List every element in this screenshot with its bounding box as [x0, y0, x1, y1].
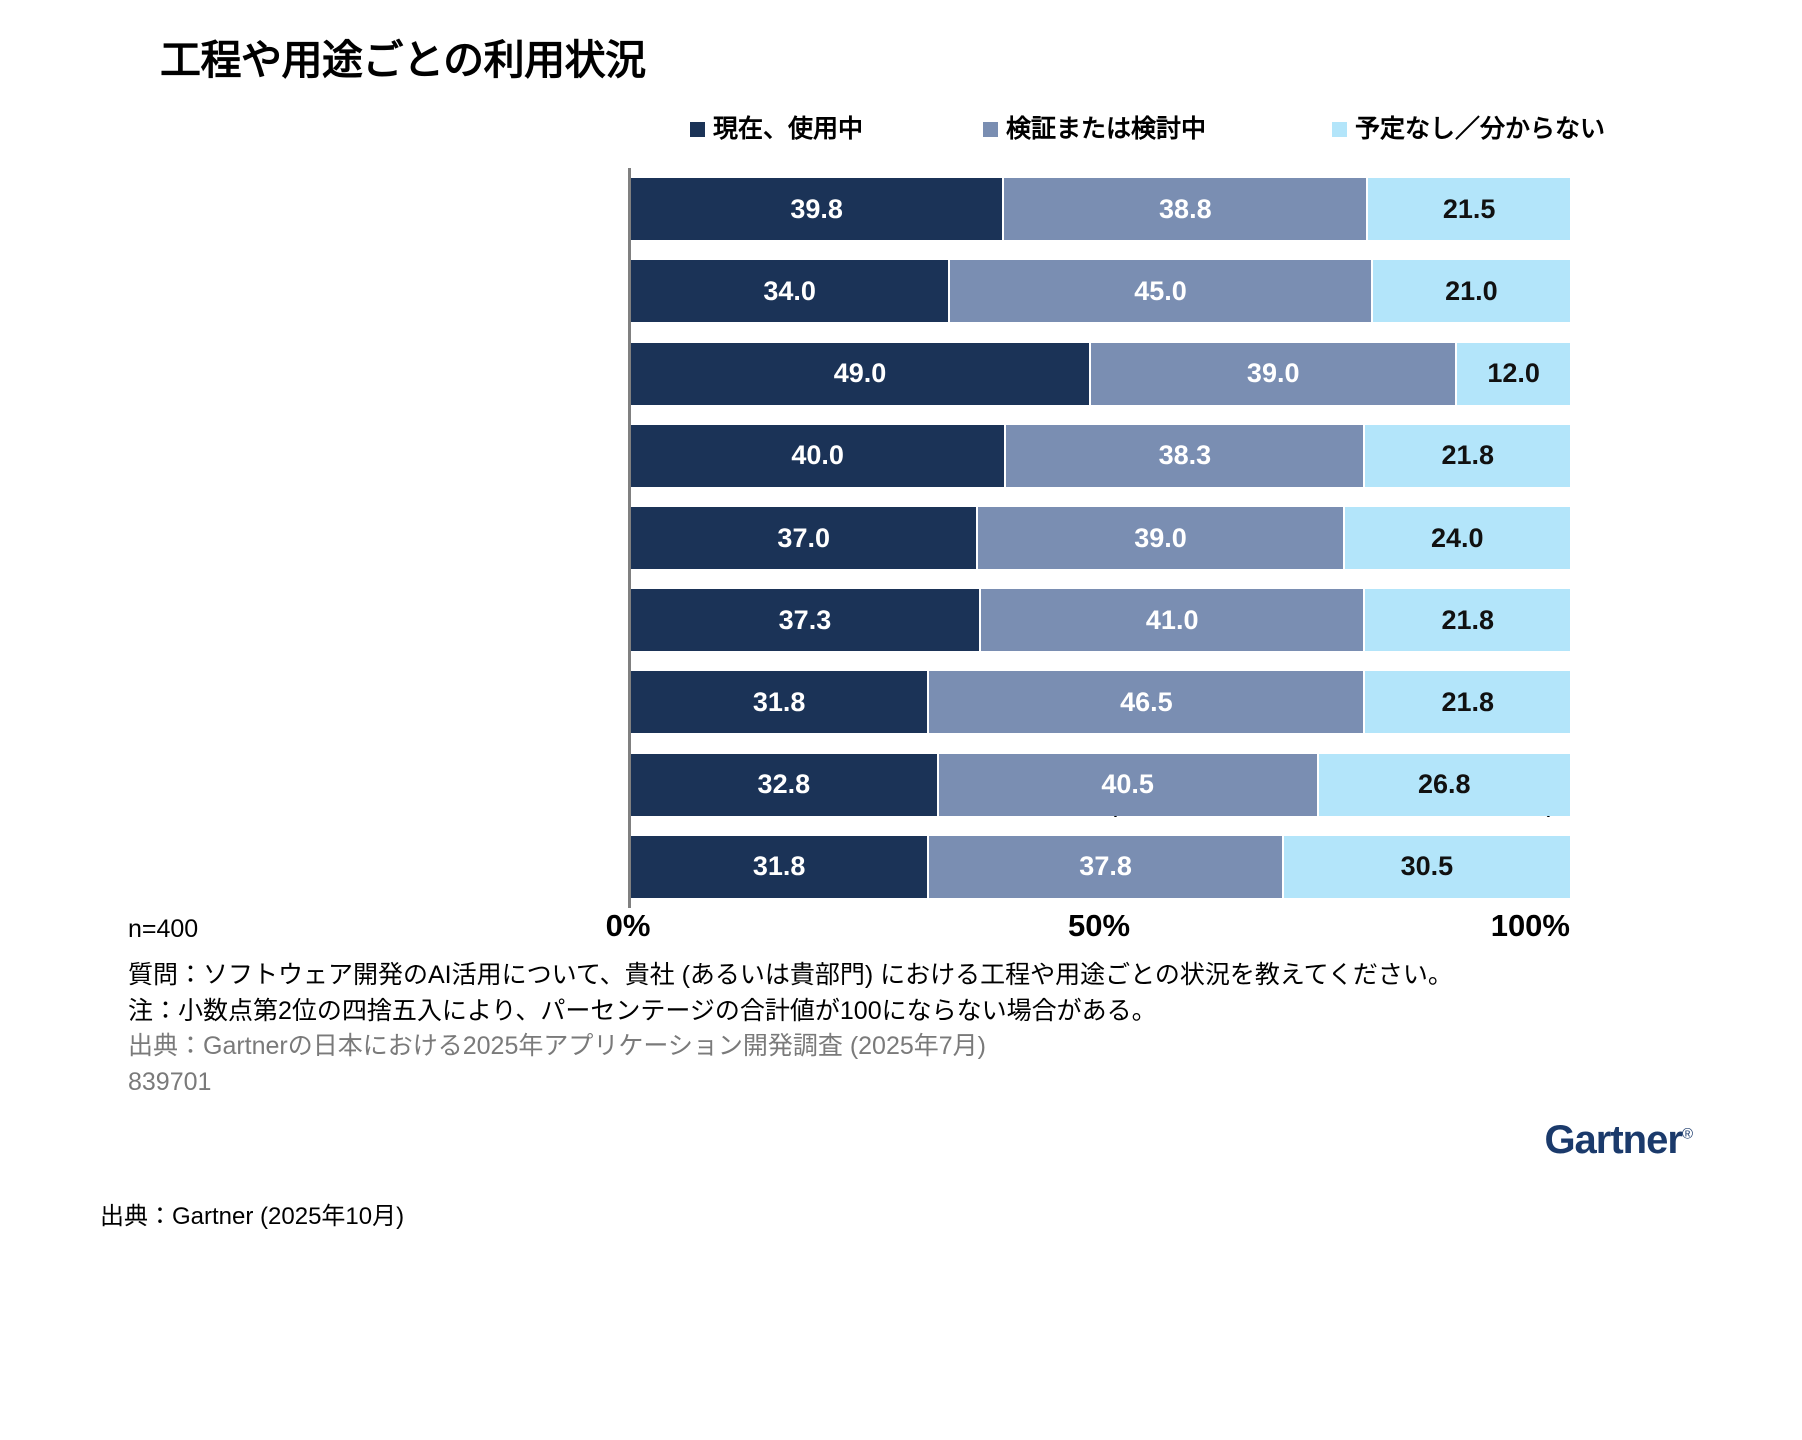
bar-segment-1[interactable]: 39.0 [978, 507, 1344, 569]
bar-value-label: 39.8 [790, 196, 843, 223]
bar-value-label: 21.5 [1443, 196, 1496, 223]
bar-value-label: 37.3 [779, 607, 832, 634]
stacked-bar: 32.840.526.8 [631, 754, 1570, 816]
bar-value-label: 21.0 [1445, 278, 1498, 305]
bar-value-label: 21.8 [1441, 607, 1494, 634]
chart-plot-area: 要件定義39.838.821.5設計34.045.021.0コード生成・補完49… [160, 168, 1570, 908]
footnote-3: 839701 [128, 1065, 1688, 1101]
bar-segment-0[interactable]: 37.3 [631, 589, 981, 651]
chart-title: 工程や用途ごとの利用状況 [160, 26, 646, 86]
bar-segment-2[interactable]: 21.5 [1368, 178, 1570, 240]
bar-segment-2[interactable]: 21.8 [1365, 671, 1569, 733]
bar-segment-0[interactable]: 31.8 [631, 836, 929, 898]
bar-value-label: 12.0 [1487, 360, 1540, 387]
chart-row: デバッグ37.039.024.0 [160, 507, 1570, 569]
bar-segment-0[interactable]: 37.0 [631, 507, 978, 569]
bar-value-label: 31.8 [753, 689, 806, 716]
bar-segment-2[interactable]: 21.8 [1365, 425, 1569, 487]
bar-segment-1[interactable]: 40.5 [939, 754, 1319, 816]
bar-segment-0[interactable]: 32.8 [631, 754, 939, 816]
stacked-bar: 49.039.012.0 [631, 343, 1570, 405]
bar-segment-1[interactable]: 38.3 [1006, 425, 1365, 487]
bar-segment-2[interactable]: 30.5 [1284, 836, 1570, 898]
legend-square-icon [1332, 122, 1347, 137]
bar-value-label: 46.5 [1120, 689, 1173, 716]
stacked-bar: 31.846.521.8 [631, 671, 1570, 733]
chart-legend: 現在、使用中検証または検討中予定なし／分からない [690, 112, 1480, 146]
bar-value-label: 38.8 [1159, 196, 1212, 223]
stacked-bar: 37.341.021.8 [631, 589, 1570, 651]
bar-value-label: 24.0 [1431, 525, 1484, 552]
bar-segment-2[interactable]: 26.8 [1319, 754, 1570, 816]
bar-value-label: 40.0 [791, 442, 844, 469]
chart-row: プロジェクト管理31.837.830.5 [160, 836, 1570, 898]
legend-item-1[interactable]: 検証または検討中 [983, 117, 1206, 142]
x-tick-2: 100% [1491, 908, 1570, 944]
bar-segment-2[interactable]: 12.0 [1457, 343, 1570, 405]
footnote-1: 注：小数点第2位の四捨五入により、パーセンテージの合計値が100にならない場合が… [128, 994, 1688, 1030]
chart-row: コード生成・補完49.039.012.0 [160, 343, 1570, 405]
bar-value-label: 30.5 [1401, 853, 1454, 880]
gartner-logo: Gartner® [1544, 1118, 1692, 1163]
bar-value-label: 32.8 [758, 771, 811, 798]
legend-square-icon [690, 122, 705, 137]
registered-mark-icon: ® [1682, 1126, 1692, 1143]
bar-segment-1[interactable]: 46.5 [929, 671, 1365, 733]
bar-value-label: 49.0 [834, 360, 887, 387]
stacked-bar: 37.039.024.0 [631, 507, 1570, 569]
bar-segment-0[interactable]: 31.8 [631, 671, 929, 733]
legend-item-2[interactable]: 予定なし／分からない [1332, 117, 1605, 142]
stacked-bar: 39.838.821.5 [631, 178, 1570, 240]
bar-value-label: 39.0 [1134, 525, 1187, 552]
chart-row: テストケースやテスト・データの生成37.341.021.8 [160, 589, 1570, 651]
chart-row: モダナイゼーション(レガシー・コードの分析や変換など)32.840.526.8 [160, 754, 1570, 816]
bar-value-label: 45.0 [1134, 278, 1187, 305]
chart-row: 設計34.045.021.0 [160, 260, 1570, 322]
bottom-source-note: 出典：Gartner (2025年10月) [100, 1196, 404, 1231]
bar-value-label: 37.8 [1079, 853, 1132, 880]
chart-row: テスト自動化31.846.521.8 [160, 671, 1570, 733]
bar-value-label: 21.8 [1441, 689, 1494, 716]
gartner-logo-text: Gartner [1544, 1118, 1682, 1162]
bar-segment-2[interactable]: 21.0 [1373, 260, 1570, 322]
bar-value-label: 26.8 [1418, 771, 1471, 798]
legend-label-1: 検証または検討中 [1006, 117, 1206, 142]
bar-value-label: 39.0 [1247, 360, 1300, 387]
bar-segment-1[interactable]: 39.0 [1091, 343, 1457, 405]
stacked-bar: 31.837.830.5 [631, 836, 1570, 898]
footnotes: 質問：ソフトウェア開発のAI活用について、貴社 (あるいは貴部門) における工程… [128, 958, 1688, 1100]
bar-segment-2[interactable]: 21.8 [1365, 589, 1569, 651]
sample-size-label: n=400 [128, 915, 198, 944]
bar-value-label: 31.8 [753, 853, 806, 880]
chart-row: 要件定義39.838.821.5 [160, 178, 1570, 240]
bar-segment-1[interactable]: 37.8 [929, 836, 1284, 898]
bar-value-label: 37.0 [777, 525, 830, 552]
bar-segment-2[interactable]: 24.0 [1345, 507, 1570, 569]
bar-value-label: 40.5 [1101, 771, 1154, 798]
bar-segment-0[interactable]: 34.0 [631, 260, 950, 322]
bar-segment-0[interactable]: 39.8 [631, 178, 1004, 240]
bar-segment-1[interactable]: 41.0 [981, 589, 1366, 651]
bar-value-label: 38.3 [1159, 442, 1212, 469]
stacked-bar: 40.038.321.8 [631, 425, 1570, 487]
footnote-2: 出典：Gartnerの日本における2025年アプリケーション開発調査 (2025… [128, 1029, 1688, 1065]
bar-value-label: 21.8 [1441, 442, 1494, 469]
x-axis: 0% 50% 100% [160, 908, 1570, 952]
bar-segment-1[interactable]: 38.8 [1004, 178, 1368, 240]
bar-value-label: 41.0 [1146, 607, 1199, 634]
bar-segment-0[interactable]: 40.0 [631, 425, 1006, 487]
legend-label-2: 予定なし／分からない [1355, 117, 1605, 142]
legend-label-0: 現在、使用中 [713, 117, 863, 142]
legend-item-0[interactable]: 現在、使用中 [690, 117, 863, 142]
bar-value-label: 34.0 [763, 278, 816, 305]
x-tick-0: 0% [606, 908, 651, 944]
chart-row: コード・レビュー40.038.321.8 [160, 425, 1570, 487]
stacked-bar: 34.045.021.0 [631, 260, 1570, 322]
x-tick-1: 50% [1068, 908, 1130, 944]
bar-segment-0[interactable]: 49.0 [631, 343, 1091, 405]
legend-square-icon [983, 122, 998, 137]
bar-segment-1[interactable]: 45.0 [950, 260, 1373, 322]
footnote-0: 質問：ソフトウェア開発のAI活用について、貴社 (あるいは貴部門) における工程… [128, 958, 1688, 994]
